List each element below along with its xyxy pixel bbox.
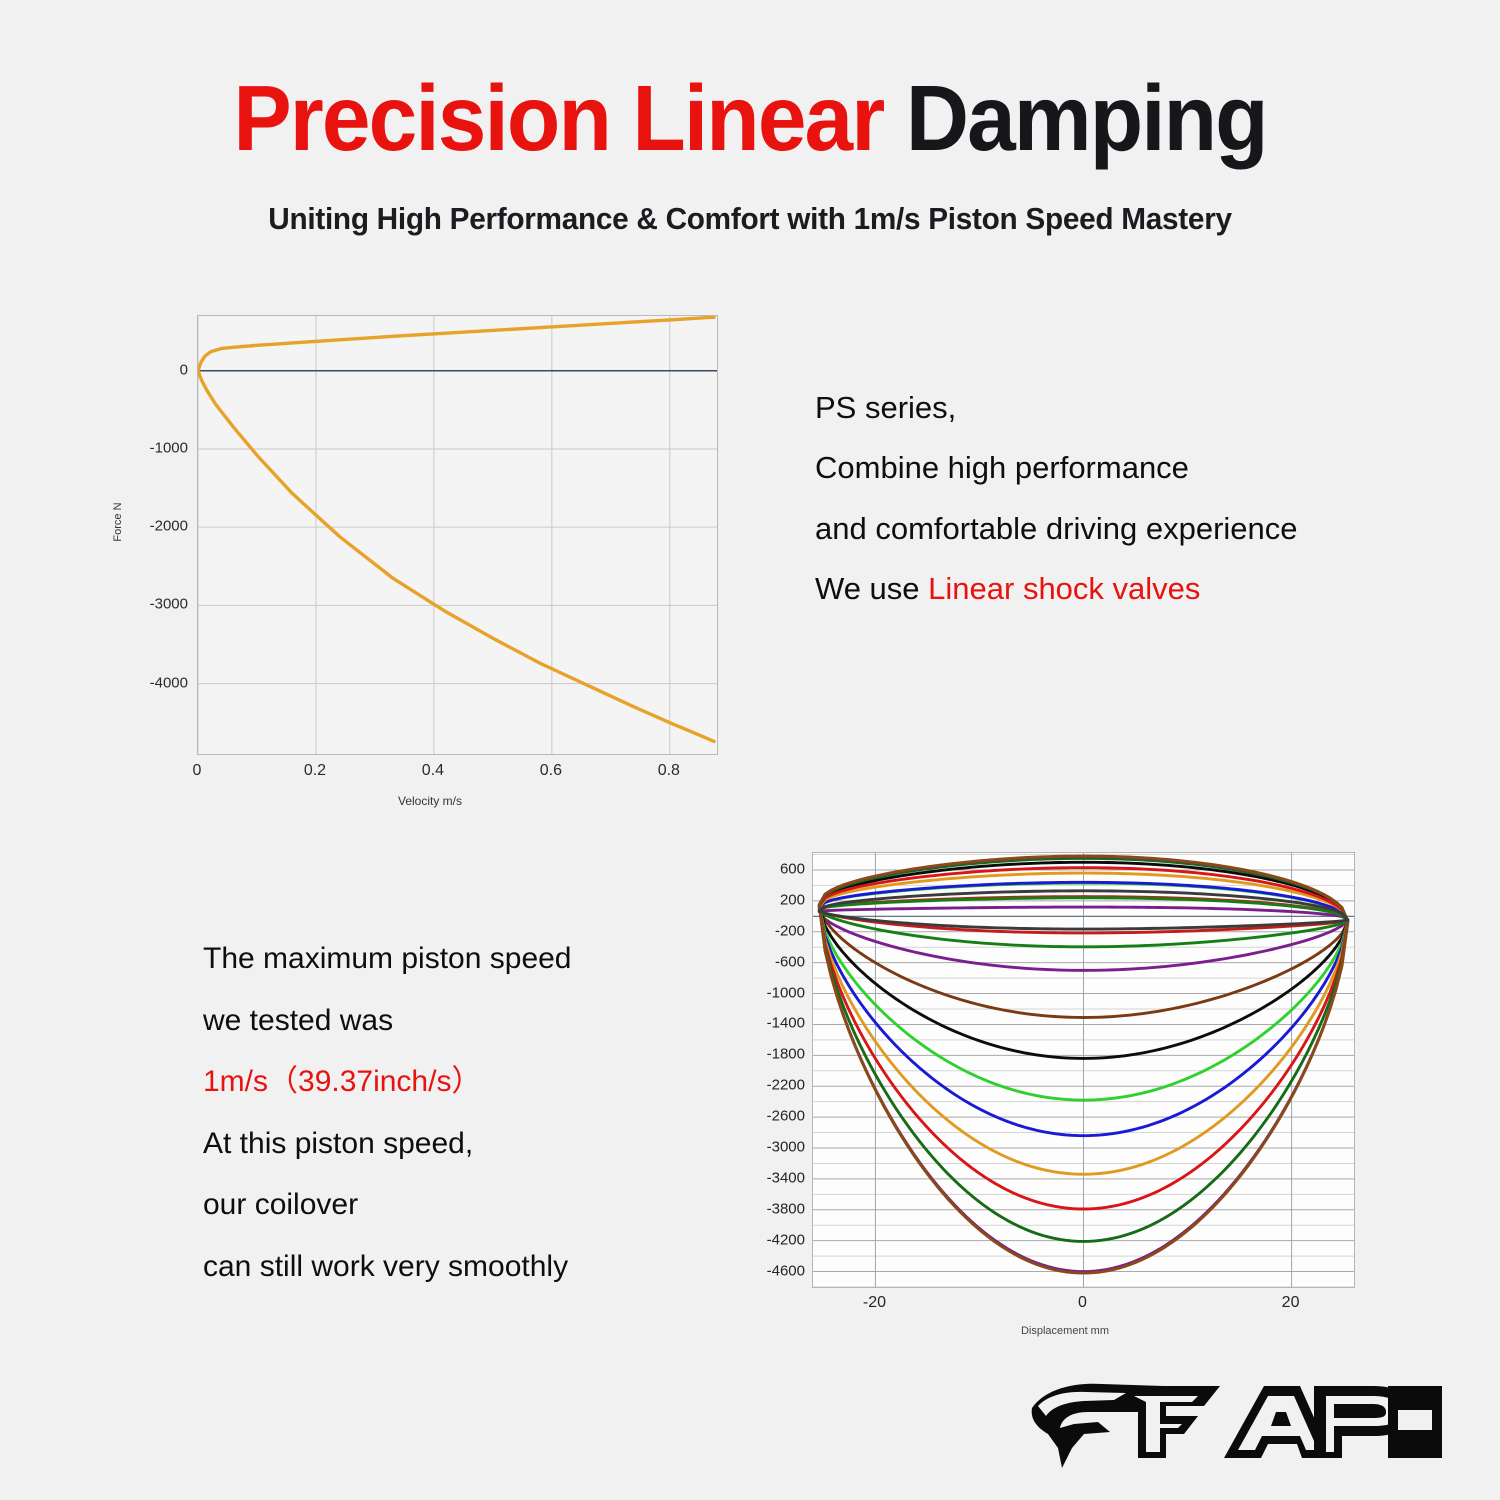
piston-line-6: can still work very smoothly bbox=[203, 1236, 723, 1298]
chart2-y-tick: 600 bbox=[780, 860, 805, 877]
description-line-1: PS series, bbox=[815, 378, 1435, 438]
chart1-y-tick: -2000 bbox=[150, 518, 188, 535]
piston-line-4: At this piston speed, bbox=[203, 1113, 723, 1175]
force-velocity-chart: Force N 0-1000-2000-3000-4000 00.20.40.6… bbox=[110, 296, 750, 826]
chart1-x-tick: 0.2 bbox=[304, 762, 326, 780]
chart2-y-tick: -3800 bbox=[767, 1200, 805, 1217]
chart2-y-tick: -1800 bbox=[767, 1046, 805, 1063]
chart2-x-axis-label: Displacement mm bbox=[735, 1325, 1395, 1337]
chart1-svg bbox=[198, 316, 717, 754]
page-subtitle: Uniting High Performance & Comfort with … bbox=[30, 165, 1470, 237]
fapo-brand-logo bbox=[1014, 1376, 1444, 1476]
chart1-x-tick: 0 bbox=[193, 762, 202, 780]
chart1-y-tick: -1000 bbox=[150, 439, 188, 456]
piston-speed-value: 1m/s（39.37inch/s） bbox=[203, 1051, 723, 1113]
chart2-y-tick: -2200 bbox=[767, 1077, 805, 1094]
chart1-series-rebound-upper-branch bbox=[198, 317, 714, 371]
piston-speed-description-block: The maximum piston speed we tested was 1… bbox=[203, 928, 723, 1297]
page-title-dark-segment: Damping bbox=[906, 66, 1267, 170]
chart2-y-tick: -3400 bbox=[767, 1169, 805, 1186]
description-line-3: and comfortable driving experience bbox=[815, 499, 1435, 559]
fapo-wordmark bbox=[1122, 1386, 1442, 1458]
chart1-series-compression-lower-branch bbox=[198, 371, 714, 742]
chart2-y-tick: -4600 bbox=[767, 1262, 805, 1279]
page-title-accent-segment: Precision Linear bbox=[233, 66, 883, 170]
product-description-block: PS series, Combine high performance and … bbox=[815, 378, 1435, 620]
chart1-y-axis-label: Force N bbox=[112, 502, 124, 541]
chart1-plot-area bbox=[197, 315, 718, 755]
piston-line-2: we tested was bbox=[203, 990, 723, 1052]
piston-line-1: The maximum piston speed bbox=[203, 928, 723, 990]
chart2-y-tick: 200 bbox=[780, 891, 805, 908]
chart2-x-tick: 20 bbox=[1282, 1294, 1300, 1312]
header: Precision Linear Damping Uniting High Pe… bbox=[0, 0, 1500, 237]
chart2-x-tick: 0 bbox=[1078, 1294, 1087, 1312]
description-line-4: We use Linear shock valves bbox=[815, 559, 1435, 619]
chart1-y-tick: -4000 bbox=[150, 674, 188, 691]
chart2-y-tick: -200 bbox=[775, 922, 805, 939]
chart1-x-tick: 0.8 bbox=[658, 762, 680, 780]
fapo-logo-svg bbox=[1014, 1376, 1444, 1476]
description-line-4-prefix: We use bbox=[815, 571, 928, 606]
chart2-y-tick: -600 bbox=[775, 953, 805, 970]
chart1-x-tick: 0.4 bbox=[422, 762, 444, 780]
chart2-y-tick: -2600 bbox=[767, 1108, 805, 1125]
chart1-y-tick: 0 bbox=[180, 361, 188, 378]
chart1-x-axis-label: Velocity m/s bbox=[110, 794, 750, 808]
chart1-y-tick: -3000 bbox=[150, 596, 188, 613]
chart2-y-tick: -1400 bbox=[767, 1015, 805, 1032]
chart2-plot-area bbox=[812, 852, 1355, 1288]
description-line-2: Combine high performance bbox=[815, 438, 1435, 498]
chart2-y-tick: -1000 bbox=[767, 984, 805, 1001]
description-line-4-accent: Linear shock valves bbox=[928, 571, 1200, 606]
piston-line-5: our coilover bbox=[203, 1174, 723, 1236]
chart2-y-tick: -3000 bbox=[767, 1138, 805, 1155]
page-title: Precision Linear Damping bbox=[45, 0, 1455, 165]
chart1-x-tick: 0.6 bbox=[540, 762, 562, 780]
chart2-x-tick: -20 bbox=[863, 1294, 886, 1312]
chart2-svg bbox=[813, 853, 1354, 1287]
force-displacement-chart: 600200-200-600-1000-1400-1800-2200-2600-… bbox=[735, 842, 1395, 1342]
chart2-y-tick: -4200 bbox=[767, 1231, 805, 1248]
